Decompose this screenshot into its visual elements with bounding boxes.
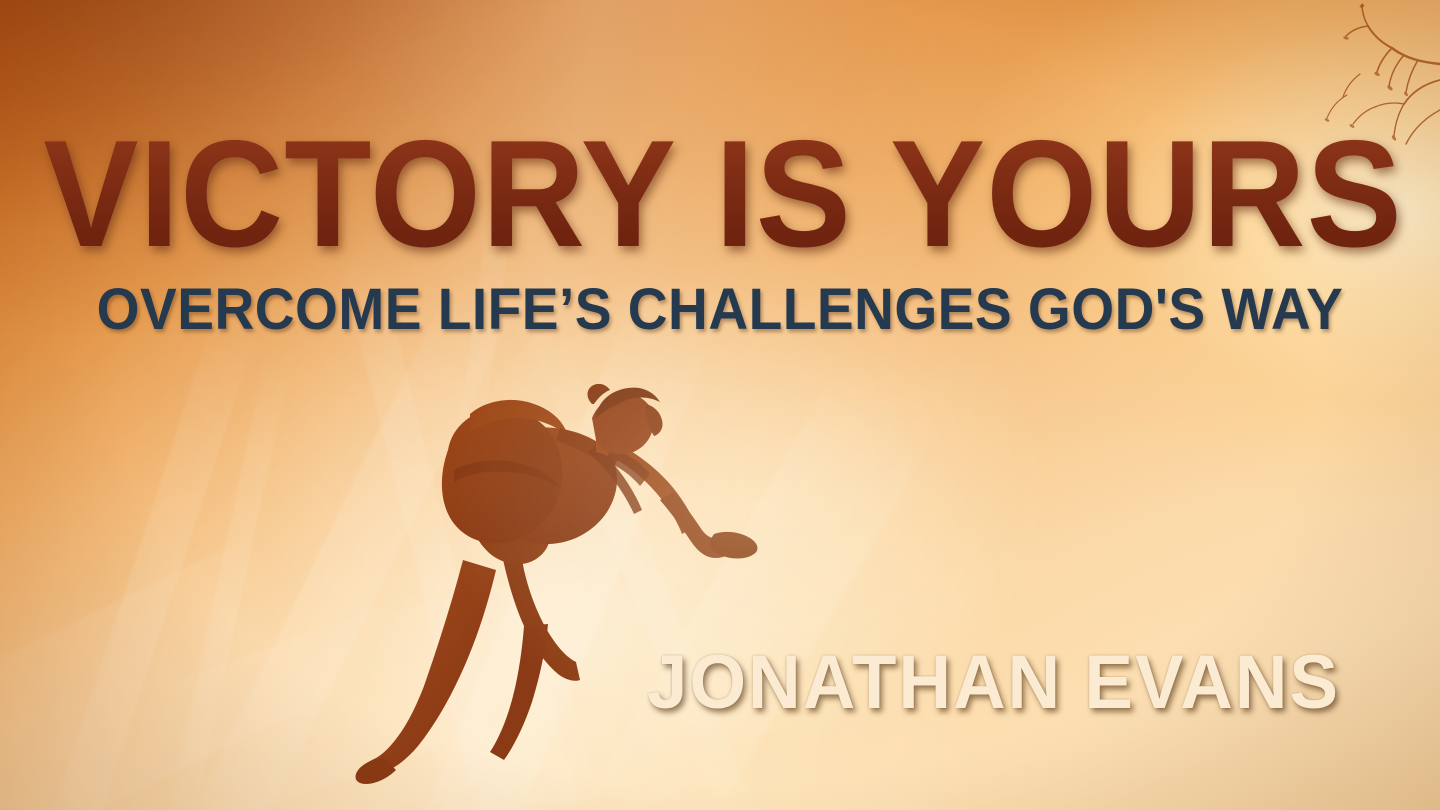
cover-subtitle: OVERCOME LIFE’S CHALLENGES GOD'S WAY (36, 281, 1404, 339)
author-name: JONATHAN EVANS (647, 645, 1340, 721)
book-cover-poster: VICTORY IS YOURS OVERCOME LIFE’S CHALLEN… (0, 0, 1440, 810)
cover-text-group: VICTORY IS YOURS OVERCOME LIFE’S CHALLEN… (0, 0, 1440, 810)
page-title: VICTORY IS YOURS (43, 118, 1397, 270)
